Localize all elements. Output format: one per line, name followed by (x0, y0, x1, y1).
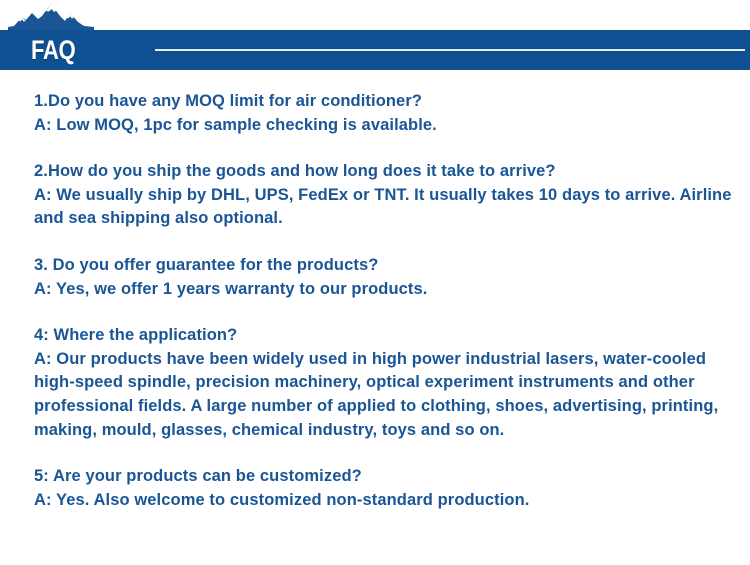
faq-item: 1.Do you have any MOQ limit for air cond… (34, 90, 734, 137)
page-header: FAQ (0, 0, 750, 72)
faq-question: 1.Do you have any MOQ limit for air cond… (34, 90, 734, 114)
page-title: FAQ (31, 30, 75, 70)
faq-answer: A: Low MOQ, 1pc for sample checking is a… (34, 114, 734, 138)
faq-question: 5: Are your products can be customized? (34, 465, 734, 489)
header-divider-line (155, 49, 745, 51)
faq-question: 3. Do you offer guarantee for the produc… (34, 254, 734, 278)
faq-answer: A: Yes, we offer 1 years warranty to our… (34, 278, 734, 302)
faq-question: 4: Where the application? (34, 324, 734, 348)
faq-answer: A: We usually ship by DHL, UPS, FedEx or… (34, 184, 734, 231)
faq-item: 3. Do you offer guarantee for the produc… (34, 254, 734, 301)
faq-answer: A: Yes. Also welcome to customized non-s… (34, 489, 734, 513)
faq-answer: A: Our products have been widely used in… (34, 348, 734, 442)
faq-item: 2.How do you ship the goods and how long… (34, 160, 734, 231)
faq-item: 4: Where the application? A: Our product… (34, 324, 734, 442)
faq-content: 1.Do you have any MOQ limit for air cond… (34, 90, 734, 512)
mountain-range-icon (8, 0, 94, 32)
faq-item: 5: Are your products can be customized? … (34, 465, 734, 512)
faq-question: 2.How do you ship the goods and how long… (34, 160, 734, 184)
